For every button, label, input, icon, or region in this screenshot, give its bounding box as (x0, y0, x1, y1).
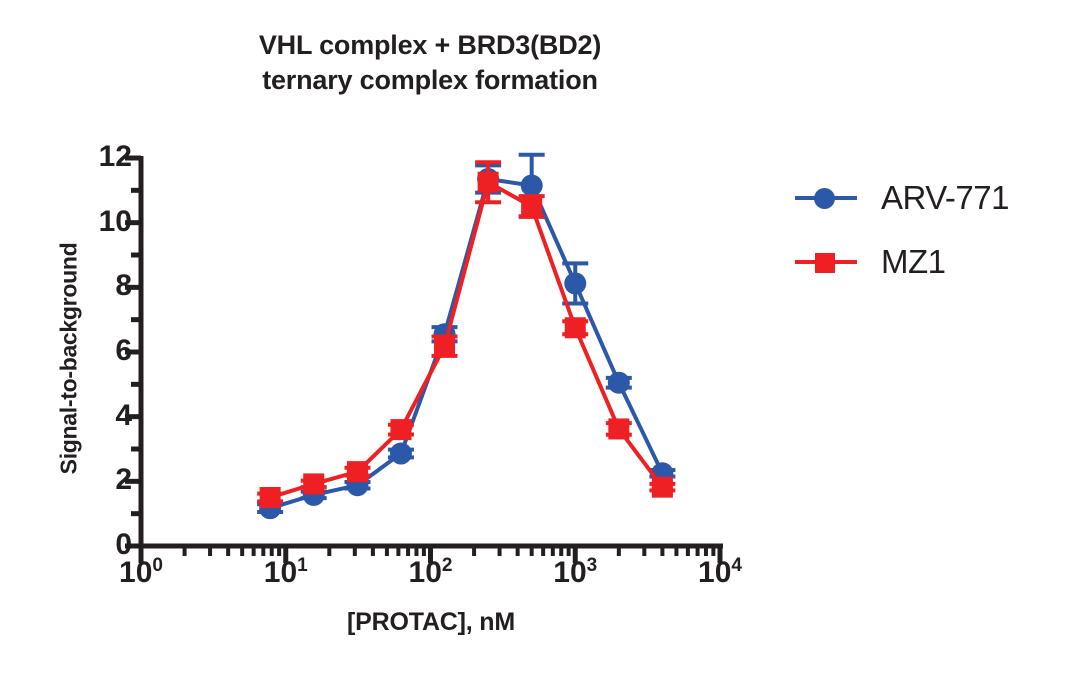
x-tick-exponent: 2 (442, 555, 453, 576)
data-point-square (565, 317, 586, 338)
x-tick-label: 101 (264, 558, 308, 588)
data-point-circle (608, 372, 630, 394)
x-tick-mantissa: 10 (409, 556, 442, 589)
x-tick-label: 102 (409, 558, 453, 588)
series-arv-771 (257, 155, 675, 519)
y-tick-label: 8 (72, 271, 132, 301)
data-point-circle (564, 272, 586, 294)
legend-item-mz1[interactable]: MZ1 (795, 230, 1009, 294)
data-point-square (608, 418, 629, 439)
x-tick-mantissa: 10 (119, 556, 152, 589)
x-tick-label: 100 (119, 558, 163, 588)
legend-item-arv-771[interactable]: ARV-771 (795, 166, 1009, 230)
y-tick-label: 10 (72, 207, 132, 237)
x-tick-exponent: 3 (587, 555, 598, 576)
x-tick-exponent: 1 (297, 555, 308, 576)
chart-figure: VHL complex + BRD3(BD2) ternary complex … (0, 0, 1068, 695)
legend-label-arv-771: ARV-771 (881, 179, 1009, 217)
data-point-circle (521, 174, 543, 196)
series-mz1 (257, 162, 675, 508)
y-tick-label: 6 (72, 336, 132, 366)
x-tick-label: 104 (698, 558, 742, 588)
legend-swatch-arv-771 (795, 181, 857, 215)
x-tick-mantissa: 10 (553, 556, 586, 589)
data-point-square (347, 461, 368, 482)
data-point-square (478, 172, 499, 193)
circle-marker-icon (814, 188, 835, 209)
data-point-square (652, 477, 673, 498)
x-tick-mantissa: 10 (264, 556, 297, 589)
x-tick-exponent: 4 (731, 555, 742, 576)
x-tick-mantissa: 10 (698, 556, 731, 589)
data-point-square (390, 419, 411, 440)
legend-label-mz1: MZ1 (881, 243, 946, 281)
data-point-circle (390, 443, 412, 465)
data-point-square (260, 487, 281, 508)
chart-legend: ARV-771 MZ1 (795, 166, 1009, 294)
y-tick-label: 2 (72, 465, 132, 495)
data-point-square (521, 196, 542, 217)
series-line (270, 179, 662, 508)
data-point-square (434, 336, 455, 357)
data-point-square (303, 473, 324, 494)
x-tick-label: 103 (553, 558, 597, 588)
series-line (270, 182, 662, 497)
plot-area (0, 0, 1068, 695)
x-tick-exponent: 0 (152, 555, 163, 576)
y-tick-label: 12 (72, 142, 132, 172)
y-tick-label: 4 (72, 401, 132, 431)
legend-swatch-mz1 (795, 245, 857, 279)
square-marker-icon (815, 253, 835, 273)
